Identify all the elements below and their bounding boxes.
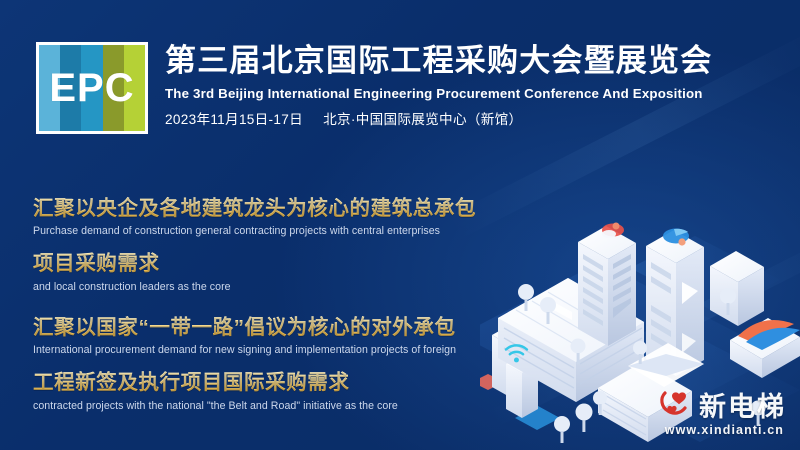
spacer <box>33 356 553 370</box>
copy-block-1-en-line2: and local construction leaders as the co… <box>33 281 553 293</box>
banner-copy: 汇聚以央企及各地建筑龙头为核心的建筑总承包 Purchase demand of… <box>33 196 553 412</box>
copy-block-2-en-line2: contracted projects with the national "t… <box>33 400 553 412</box>
copy-block-1-cn-line1: 汇聚以央企及各地建筑龙头为核心的建筑总承包 <box>33 196 553 221</box>
spacer <box>33 237 553 251</box>
copy-block-2-cn-line2: 工程新签及执行项目国际采购需求 <box>33 370 553 395</box>
event-banner: EPC 第三届北京国际工程采购大会暨展览会 The 3rd Beijing In… <box>0 0 800 450</box>
header-text-group: 第三届北京国际工程采购大会暨展览会 The 3rd Beijing Intern… <box>165 42 712 128</box>
event-title-en: The 3rd Beijing International Engineerin… <box>165 86 712 101</box>
copy-block-2: 汇聚以国家“一带一路”倡议为核心的对外承包 International proc… <box>33 315 553 412</box>
copy-block-1-cn-line2: 项目采购需求 <box>33 251 553 276</box>
copy-block-1: 汇聚以央企及各地建筑龙头为核心的建筑总承包 Purchase demand of… <box>33 196 553 293</box>
event-date-venue: 2023年11月15日-17日 北京·中国国际展览中心（新馆） <box>165 108 712 128</box>
event-date: 2023年11月15日-17日 <box>165 112 303 127</box>
event-title-cn: 第三届北京国际工程采购大会暨展览会 <box>165 44 712 79</box>
epc-logo: EPC <box>36 42 148 134</box>
copy-block-2-en-line1: International procurement demand for new… <box>33 344 553 356</box>
copy-block-2-cn-line1: 汇聚以国家“一带一路”倡议为核心的对外承包 <box>33 315 553 340</box>
cube-block <box>710 251 764 326</box>
isometric-city-illustration <box>480 150 800 450</box>
spacer <box>33 293 553 315</box>
tower-striped <box>578 226 636 346</box>
epc-logo-text: EPC <box>39 45 145 131</box>
banner-header: EPC 第三届北京国际工程采购大会暨展览会 The 3rd Beijing In… <box>36 42 712 134</box>
event-venue: 北京·中国国际展览中心（新馆） <box>323 112 522 127</box>
copy-block-1-en-line1: Purchase demand of construction general … <box>33 225 553 237</box>
